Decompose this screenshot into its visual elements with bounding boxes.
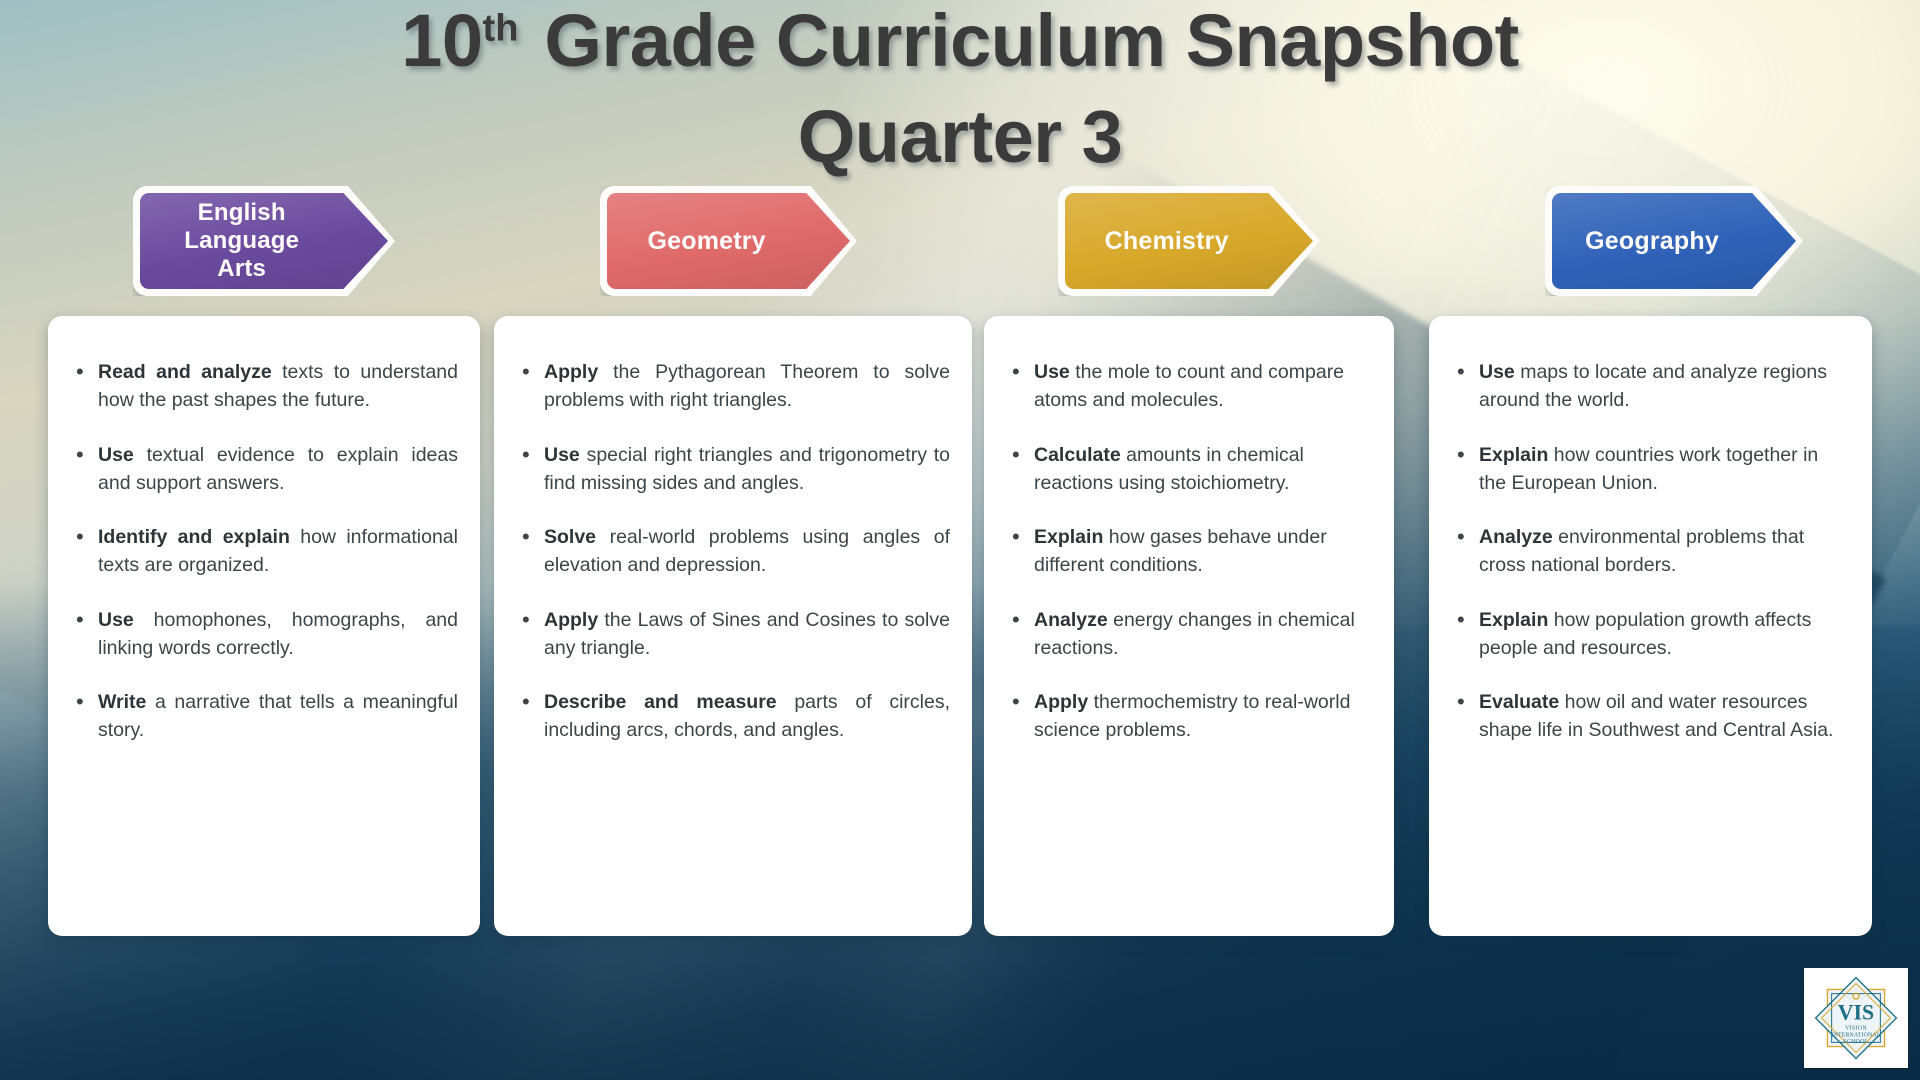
list-item: Use textual evidence to explain ideas an…: [70, 441, 458, 498]
page-title: 10thGrade Curriculum Snapshot: [0, 4, 1920, 78]
bullet-lead: Explain: [1479, 609, 1548, 631]
list-item: Describe and measure parts of circles, i…: [516, 688, 950, 745]
bullet-lead: Write: [98, 691, 146, 713]
card-chemistry-list: Use the mole to count and compare atoms …: [1006, 358, 1372, 745]
tab-geometry[interactable]: Geometry: [600, 186, 857, 296]
tab-geography-fill: Geography: [1552, 193, 1796, 289]
bullet-lead: Describe and measure: [544, 691, 777, 713]
logo-monogram: VIS: [1838, 1001, 1874, 1025]
list-item: Evaluate how oil and water resources sha…: [1451, 688, 1850, 745]
card-geography: Use maps to locate and analyze regions a…: [1429, 316, 1872, 936]
list-item: Explain how gases behave under different…: [1006, 523, 1372, 580]
bullet-lead: Use: [98, 609, 134, 631]
list-item: Analyze environmental problems that cros…: [1451, 523, 1850, 580]
bullet-lead: Calculate: [1034, 444, 1121, 466]
tab-chemistry[interactable]: Chemistry: [1058, 186, 1320, 296]
card-english-language-arts-list: Read and analyze texts to understand how…: [70, 358, 458, 745]
tab-english-language-arts-label: EnglishLanguageArts: [145, 199, 338, 282]
bullet-lead: Apply: [1034, 691, 1088, 713]
tab-english-language-arts[interactable]: EnglishLanguageArts: [133, 186, 395, 296]
card-english-language-arts: Read and analyze texts to understand how…: [48, 316, 480, 936]
list-item: Solve real-world problems using angles o…: [516, 523, 950, 580]
bullet-text: a narrative that tells a meaningful stor…: [98, 691, 458, 741]
card-chemistry: Use the mole to count and compare atoms …: [984, 316, 1394, 936]
bullet-lead: Identify and explain: [98, 526, 290, 548]
subject-tabs: EnglishLanguageArtsGeometryChemistryGeog…: [0, 186, 1920, 296]
tab-geography[interactable]: Geography: [1545, 186, 1803, 296]
bullet-text: the Laws of Sines and Cosines to solve a…: [544, 609, 950, 659]
tab-geography-label: Geography: [1557, 227, 1747, 256]
card-geometry: Apply the Pythagorean Theorem to solve p…: [494, 316, 972, 936]
bullet-text: maps to locate and analyze regions aroun…: [1479, 361, 1827, 411]
page-header: 10thGrade Curriculum Snapshot Quarter 3: [0, 0, 1920, 174]
bullet-lead: Apply: [544, 361, 598, 383]
bullet-text: real-world problems using angles of elev…: [544, 526, 950, 576]
bullet-lead: Analyze: [1479, 526, 1553, 548]
list-item: Apply thermochemistry to real-world scie…: [1006, 688, 1372, 745]
logo-line-3: SCHOOL: [1843, 1039, 1869, 1045]
tab-chemistry-fill: Chemistry: [1065, 193, 1313, 289]
bullet-lead: Read and analyze: [98, 361, 272, 383]
bullet-text: textual evidence to explain ideas and su…: [98, 444, 458, 494]
bullet-lead: Solve: [544, 526, 596, 548]
bullet-lead: Analyze: [1034, 609, 1108, 631]
bullet-lead: Apply: [544, 609, 598, 631]
bullet-lead: Use: [1479, 361, 1515, 383]
title-ordinal-suffix: th: [483, 7, 519, 49]
list-item: Analyze energy changes in chemical react…: [1006, 606, 1372, 663]
list-item: Apply the Laws of Sines and Cosines to s…: [516, 606, 950, 663]
bullet-lead: Use: [544, 444, 580, 466]
list-item: Use homophones, homographs, and linking …: [70, 606, 458, 663]
list-item: Calculate amounts in chemical reactions …: [1006, 441, 1372, 498]
bullet-text: the Pythagorean Theorem to solve problem…: [544, 361, 950, 411]
list-item: Use maps to locate and analyze regions a…: [1451, 358, 1850, 415]
list-item: Explain how countries work together in t…: [1451, 441, 1850, 498]
title-grade-number: 10: [401, 0, 482, 82]
list-item: Read and analyze texts to understand how…: [70, 358, 458, 415]
school-logo: VIS VISION INTERNATIONAL SCHOOL: [1804, 968, 1908, 1068]
bullet-lead: Explain: [1034, 526, 1103, 548]
tab-chemistry-label: Chemistry: [1070, 227, 1263, 256]
tab-geometry-label: Geometry: [612, 227, 802, 256]
logo-line-1: VISION: [1845, 1026, 1867, 1032]
list-item: Use the mole to count and compare atoms …: [1006, 358, 1372, 415]
bullet-lead: Use: [1034, 361, 1070, 383]
list-item: Use special right triangles and trigonom…: [516, 441, 950, 498]
tab-english-language-arts-fill: EnglishLanguageArts: [140, 193, 388, 289]
vis-logo-mark: VIS VISION INTERNATIONAL SCHOOL: [1813, 976, 1899, 1060]
list-item: Identify and explain how informational t…: [70, 523, 458, 580]
page-subtitle: Quarter 3: [0, 100, 1920, 174]
card-geography-list: Use maps to locate and analyze regions a…: [1451, 358, 1850, 745]
bullet-lead: Use: [98, 444, 134, 466]
bullet-lead: Evaluate: [1479, 691, 1559, 713]
logo-line-2: INTERNATIONAL: [1831, 1032, 1880, 1038]
bullet-text: the mole to count and compare atoms and …: [1034, 361, 1344, 411]
list-item: Explain how population growth affects pe…: [1451, 606, 1850, 663]
bullet-text: homophones, homographs, and linking word…: [98, 609, 458, 659]
tab-geometry-fill: Geometry: [607, 193, 850, 289]
list-item: Apply the Pythagorean Theorem to solve p…: [516, 358, 950, 415]
list-item: Write a narrative that tells a meaningfu…: [70, 688, 458, 745]
bullet-lead: Explain: [1479, 444, 1548, 466]
card-geometry-list: Apply the Pythagorean Theorem to solve p…: [516, 358, 950, 745]
bullet-text: special right triangles and trigonometry…: [544, 444, 950, 494]
title-main-text: Grade Curriculum Snapshot: [544, 0, 1518, 82]
